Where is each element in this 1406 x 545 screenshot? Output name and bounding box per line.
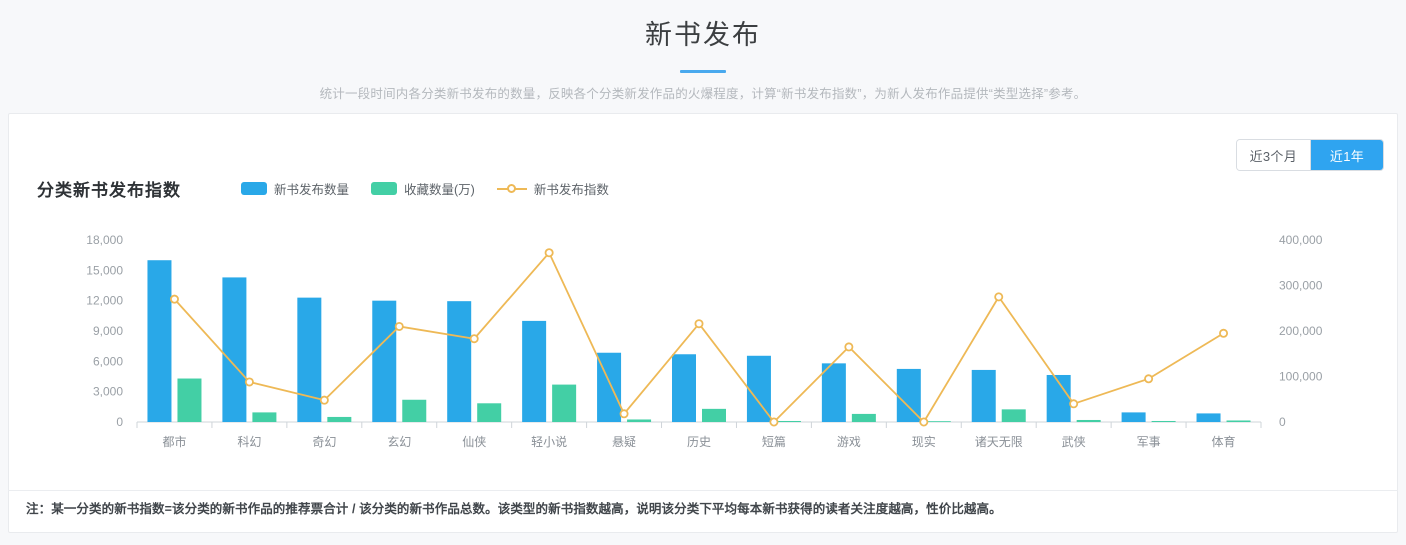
x-axis-category-label: 悬疑 <box>612 434 636 449</box>
x-axis-category-label: 武侠 <box>1062 435 1086 449</box>
bar-new-book-count[interactable] <box>897 369 921 422</box>
bar-collection-count[interactable] <box>552 385 576 422</box>
legend-item-release-index[interactable]: 新书发布指数 <box>497 179 609 198</box>
chart-plot-area: 03,0006,0009,00012,00015,00018,0000100,0… <box>9 232 1399 462</box>
left-axis-tick-label: 12,000 <box>86 294 123 308</box>
line-point-release-index[interactable] <box>995 293 1002 300</box>
bar-new-book-count[interactable] <box>822 363 846 422</box>
right-axis-tick-label: 100,000 <box>1279 370 1323 384</box>
right-axis-tick-label: 200,000 <box>1279 324 1323 338</box>
chart-card: 近3个月 近1年 分类新书发布指数 新书发布数量 收藏数量(万) <box>8 113 1398 533</box>
range-toggle-group[interactable]: 近3个月 近1年 <box>1237 140 1383 170</box>
bar-collection-count[interactable] <box>477 403 501 422</box>
chart-legend: 新书发布数量 收藏数量(万) 新书发布指数 <box>241 179 609 198</box>
page-subtitle: 统计一段时间内各分类新书发布的数量，反映各个分类新发作品的火爆程度，计算“新书发… <box>0 85 1406 103</box>
x-axis-category-label: 都市 <box>162 434 186 449</box>
x-axis-category-label: 体育 <box>1212 434 1236 449</box>
line-point-release-index[interactable] <box>770 418 777 425</box>
right-axis-tick-label: 0 <box>1279 415 1286 429</box>
line-point-release-index[interactable] <box>546 249 553 256</box>
left-axis-tick-label: 6,000 <box>93 354 123 368</box>
legend-label-collection-count: 收藏数量(万) <box>404 179 475 198</box>
x-axis-category-label: 仙侠 <box>462 435 486 449</box>
left-axis-tick-label: 0 <box>116 415 123 429</box>
bar-collection-count[interactable] <box>402 400 426 422</box>
footer-note-text: 注：某一分类的新书指数=该分类的新书作品的推荐票合计 / 该分类的新书作品总数。… <box>8 491 1398 519</box>
line-point-release-index[interactable] <box>920 418 927 425</box>
legend-item-new-book-count[interactable]: 新书发布数量 <box>241 179 349 198</box>
left-axis-tick-label: 15,000 <box>86 263 123 277</box>
chart-canvas: 03,0006,0009,00012,00015,00018,0000100,0… <box>9 232 1399 462</box>
range-button-3-months[interactable]: 近3个月 <box>1237 140 1311 170</box>
bar-new-book-count[interactable] <box>1122 412 1146 422</box>
line-point-release-index[interactable] <box>246 378 253 385</box>
bar-collection-count[interactable] <box>627 419 651 422</box>
footer-note-container: 注：某一分类的新书指数=该分类的新书作品的推荐票合计 / 该分类的新书作品总数。… <box>8 490 1398 519</box>
bar-collection-count[interactable] <box>702 409 726 422</box>
legend-label-release-index: 新书发布指数 <box>534 179 609 198</box>
bar-collection-count[interactable] <box>252 412 276 422</box>
line-point-release-index[interactable] <box>321 397 328 404</box>
page-header: 新书发布 统计一段时间内各分类新书发布的数量，反映各个分类新发作品的火爆程度，计… <box>0 0 1406 103</box>
range-button-1-year[interactable]: 近1年 <box>1311 140 1383 170</box>
x-axis-category-label: 短篇 <box>762 434 786 449</box>
line-point-release-index[interactable] <box>620 410 627 417</box>
legend-swatch-icon-new-book-count <box>241 182 267 195</box>
legend-label-new-book-count: 新书发布数量 <box>274 179 349 198</box>
legend-line-circle-icon-release-index <box>497 183 527 195</box>
bar-new-book-count[interactable] <box>297 298 321 422</box>
line-point-release-index[interactable] <box>1145 375 1152 382</box>
bar-collection-count[interactable] <box>1152 421 1176 422</box>
x-axis-category-label: 科幻 <box>237 435 261 449</box>
left-axis-tick-label: 18,000 <box>86 233 123 247</box>
bar-new-book-count[interactable] <box>672 354 696 422</box>
bar-new-book-count[interactable] <box>1197 413 1221 422</box>
left-axis-tick-label: 9,000 <box>93 324 123 338</box>
x-axis-category-label: 游戏 <box>837 435 861 449</box>
right-axis-tick-label: 400,000 <box>1279 233 1323 247</box>
bar-new-book-count[interactable] <box>447 301 471 422</box>
chart-title: 分类新书发布指数 <box>37 176 181 201</box>
legend-item-collection-count[interactable]: 收藏数量(万) <box>371 179 475 198</box>
x-axis-category-label: 现实 <box>912 434 936 449</box>
x-axis-category-label: 奇幻 <box>312 435 336 449</box>
line-point-release-index[interactable] <box>1070 400 1077 407</box>
bar-collection-count[interactable] <box>1002 409 1026 422</box>
x-axis-category-label: 诸天无限 <box>975 435 1023 449</box>
right-axis-tick-label: 300,000 <box>1279 279 1323 293</box>
bar-collection-count[interactable] <box>927 421 951 422</box>
bar-collection-count[interactable] <box>177 379 201 422</box>
line-point-release-index[interactable] <box>171 296 178 303</box>
page-title: 新书发布 <box>0 14 1406 56</box>
title-underline-rule <box>680 70 726 73</box>
x-axis-category-label: 历史 <box>687 435 711 449</box>
bar-collection-count[interactable] <box>777 421 801 422</box>
x-axis-category-label: 军事 <box>1137 435 1161 449</box>
legend-swatch-icon-collection-count <box>371 182 397 195</box>
line-point-release-index[interactable] <box>396 323 403 330</box>
line-point-release-index[interactable] <box>471 335 478 342</box>
bar-new-book-count[interactable] <box>522 321 546 422</box>
bar-new-book-count[interactable] <box>372 301 396 422</box>
x-axis-category-label: 轻小说 <box>531 434 567 449</box>
x-axis-category-label: 玄幻 <box>387 434 411 449</box>
left-axis-tick-label: 3,000 <box>93 385 123 399</box>
bar-collection-count[interactable] <box>327 417 351 422</box>
bar-new-book-count[interactable] <box>222 277 246 422</box>
line-point-release-index[interactable] <box>695 320 702 327</box>
line-point-release-index[interactable] <box>1220 330 1227 337</box>
new-book-release-page: 新书发布 统计一段时间内各分类新书发布的数量，反映各个分类新发作品的火爆程度，计… <box>0 0 1406 545</box>
bar-new-book-count[interactable] <box>972 370 996 422</box>
bar-new-book-count[interactable] <box>147 260 171 422</box>
bar-collection-count[interactable] <box>1077 420 1101 422</box>
chart-header: 分类新书发布指数 新书发布数量 收藏数量(万) 新书发布指数 <box>37 176 609 201</box>
line-point-release-index[interactable] <box>845 343 852 350</box>
bar-collection-count[interactable] <box>852 414 876 422</box>
bar-collection-count[interactable] <box>1227 420 1251 422</box>
